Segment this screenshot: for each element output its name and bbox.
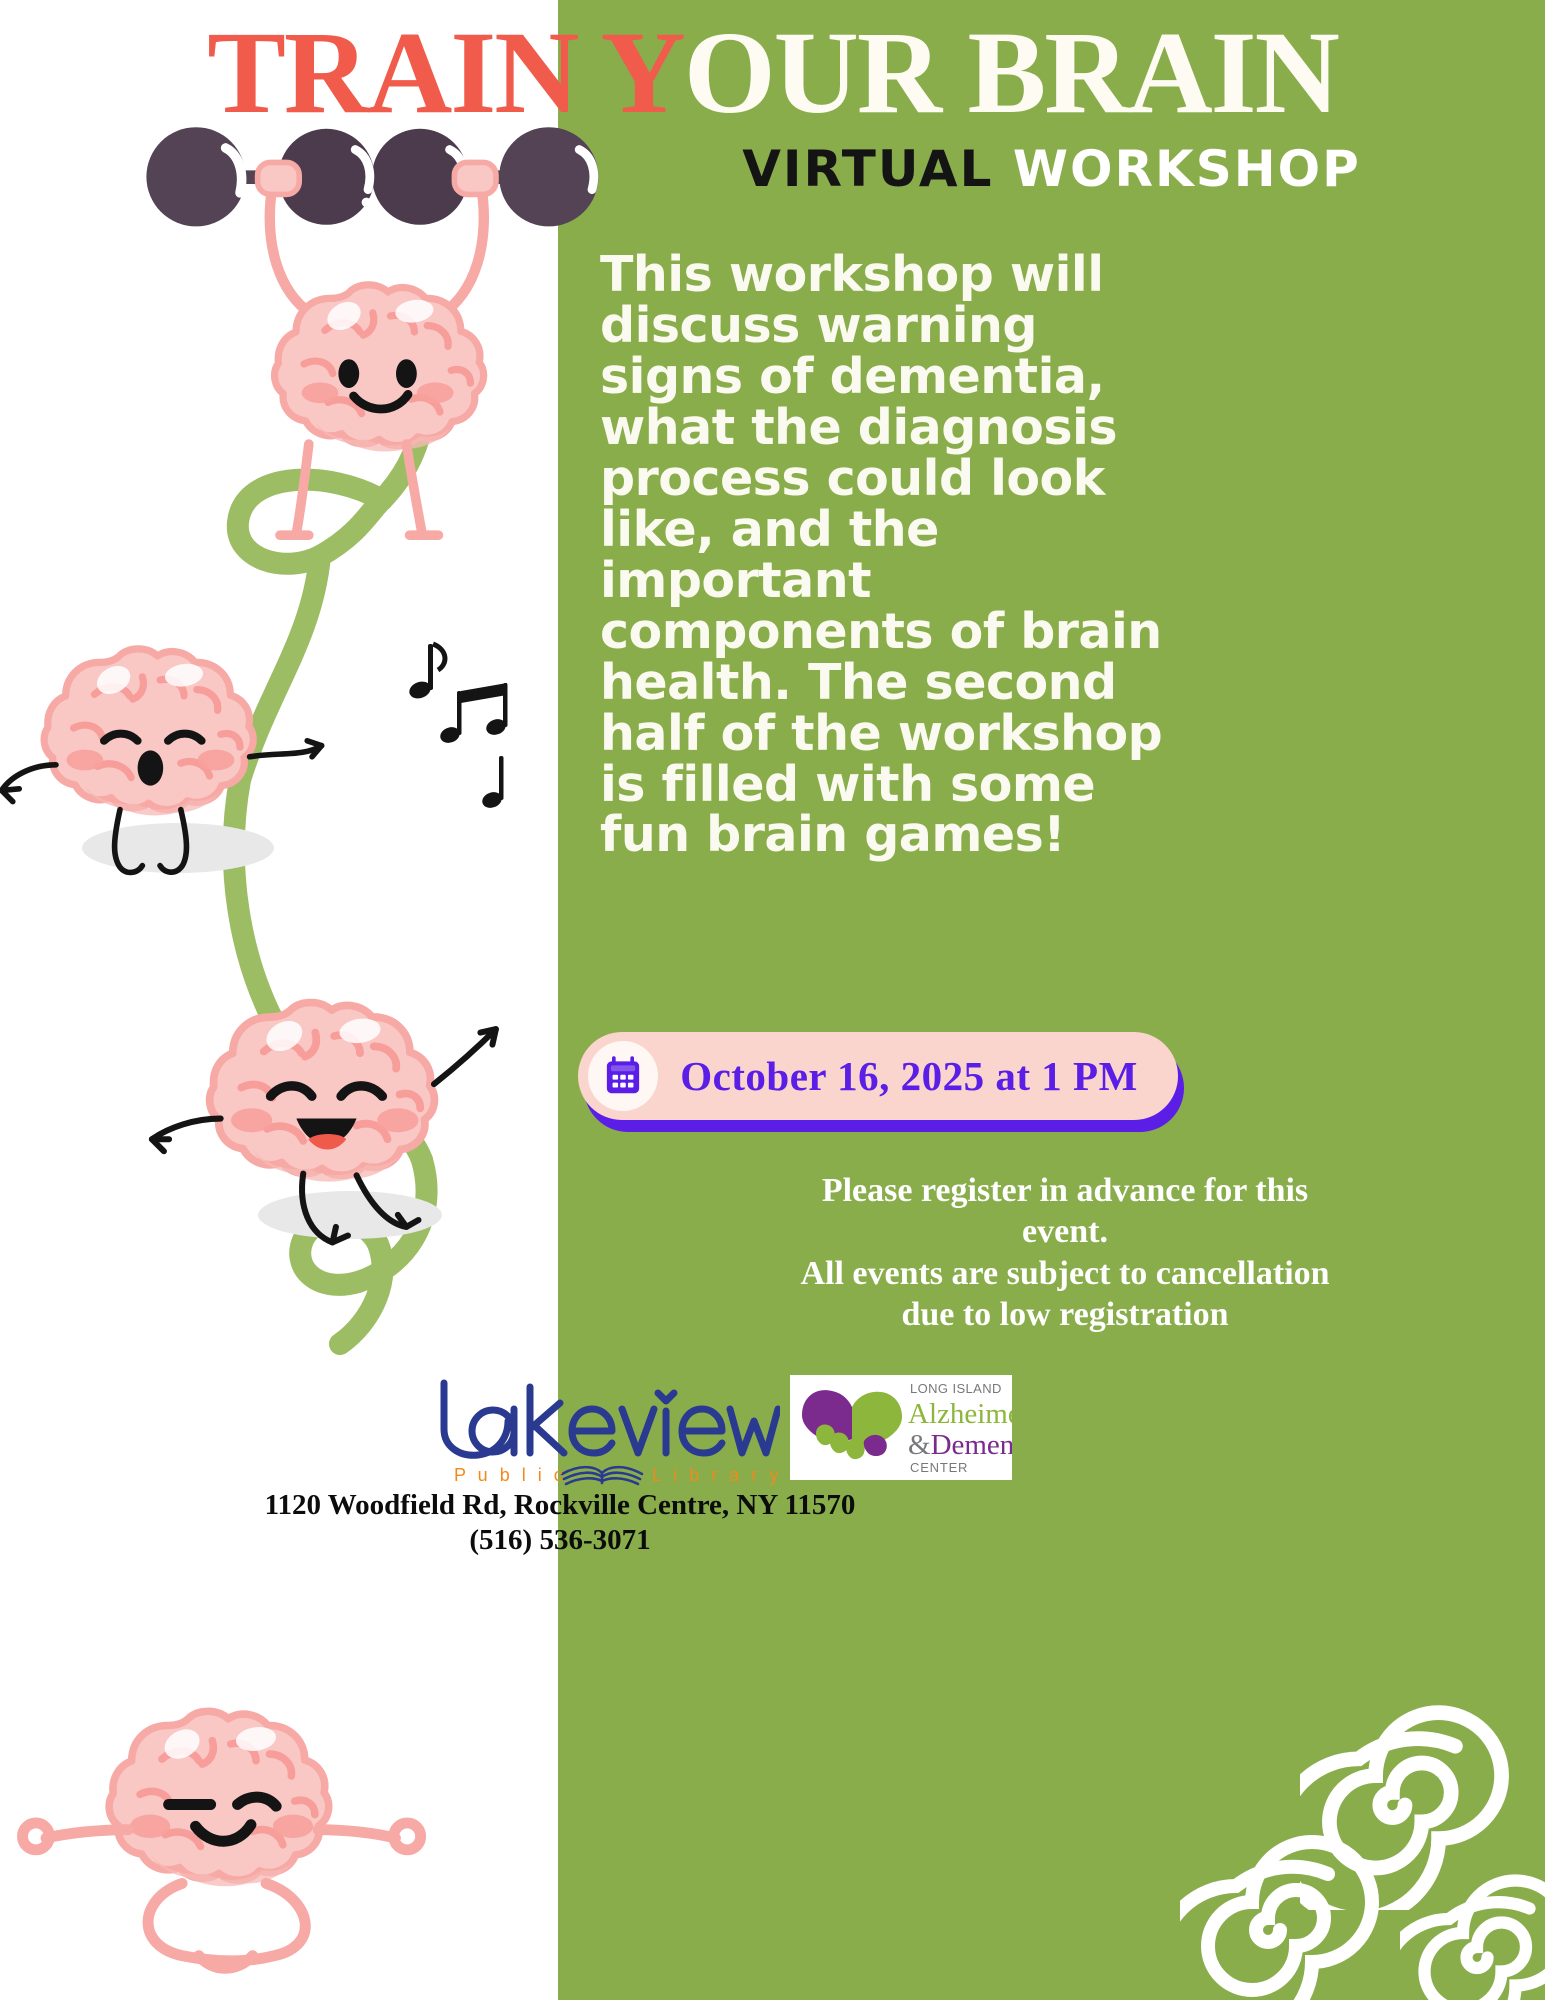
music-note-icon <box>407 644 508 810</box>
hands-heart-icon <box>802 1390 902 1459</box>
workshop-description: This workshop will discuss warning signs… <box>600 250 1190 861</box>
register-line-3: All events are subject to cancellation <box>600 1253 1530 1294</box>
subtitle-workshop: WORKSHOP <box>1013 140 1361 198</box>
lakeview-library-logo: P u b l i c L i b r a r y <box>430 1373 780 1488</box>
badge-pill: October 16, 2025 at 1 PM <box>578 1032 1178 1120</box>
registration-note: Please register in advance for this even… <box>600 1170 1530 1336</box>
address-line-1: 1120 Woodfield Rd, Rockville Centre, NY … <box>0 1488 1120 1523</box>
register-line-1: Please register in advance for this <box>600 1170 1530 1211</box>
subtitle-virtual: VIRTUAL <box>742 140 1013 198</box>
lakeview-library-text: L i b r a r y <box>652 1465 780 1485</box>
li-logo-line4: CENTER <box>910 1460 968 1475</box>
library-address: 1120 Woodfield Rd, Rockville Centre, NY … <box>0 1488 1120 1559</box>
spiral-icon <box>1180 1830 1380 2000</box>
li-logo-line2: Alzheimer's <box>908 1398 1012 1430</box>
register-line-2: event. <box>600 1211 1530 1252</box>
spiral-icon <box>1400 1870 1545 2000</box>
li-logo-line1: LONG ISLAND <box>910 1381 1002 1396</box>
platform-ellipse <box>82 823 274 873</box>
li-alzheimers-dementia-logo: LONG ISLAND Alzheimer's &Dementia CENTER <box>790 1375 1012 1480</box>
flyer-poster: TRAIN YOUR BRAIN VIRTUAL WORKSHOP This w… <box>0 0 1545 2000</box>
li-logo-line3: &Dementia <box>908 1429 1012 1461</box>
platform-ellipse <box>258 1191 442 1239</box>
calendar-icon <box>588 1041 658 1111</box>
address-phone: (516) 536-3071 <box>0 1523 1120 1558</box>
register-line-4: due to low registration <box>600 1294 1530 1335</box>
event-date-text: October 16, 2025 at 1 PM <box>658 1052 1178 1100</box>
brain-characters-illustration <box>0 0 600 2000</box>
poster-subtitle: VIRTUAL WORKSHOP <box>558 140 1545 198</box>
event-date-badge[interactable]: October 16, 2025 at 1 PM <box>578 1032 1186 1132</box>
lakeview-public-text: P u b l i c <box>454 1465 566 1485</box>
